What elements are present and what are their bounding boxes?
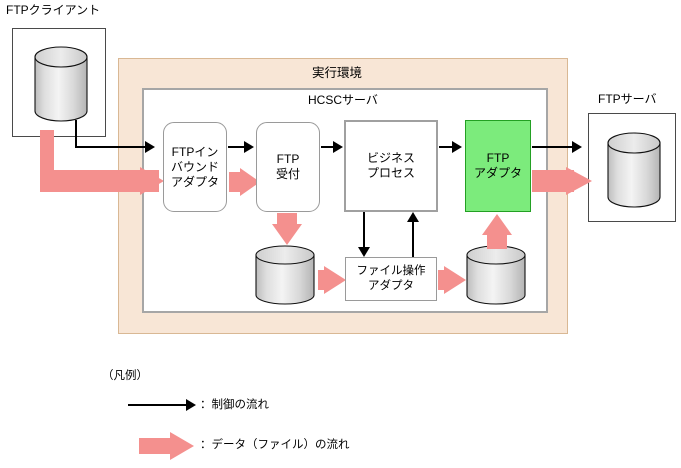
ftp-client-label: FTPクライアント [6,3,100,17]
ftp-inbound-adapter-line-2: バウンド [171,160,219,175]
execution-environment-label: 実行環境 [312,62,362,81]
ftp-server-database-icon [607,132,661,208]
data-flow-rightwork-up-arrowhead [479,213,515,237]
ftp-adapter-line-1: FTP [474,151,522,166]
ftp-server-label: FTPサーバ [598,92,657,106]
ftp-server-box [588,113,676,222]
legend-data-flow-label: ：データ（ファイル）の流れ [200,438,350,452]
control-flow-adapter-to-server-line [532,146,574,148]
ftp-reception-line-1: FTP [276,152,300,167]
diagram-canvas: FTPクライアント [0,0,681,468]
control-flow-client-vertical [75,120,77,148]
ftp-reception-node[interactable]: FTP 受付 [256,122,320,212]
control-flow-adapter-to-server-arrowhead [572,141,582,153]
control-flow-process-to-fileop-arrowhead [358,247,370,257]
legend-data-flow-arrowhead [170,430,196,464]
work-file-left-database-icon [255,245,317,307]
ftp-inbound-adapter-node[interactable]: FTPイン バウンド アダプタ [163,122,227,212]
control-flow-process-to-adapter-arrowhead [452,141,462,153]
work-file-right-database-icon [466,245,528,307]
control-flow-process-to-fileop-line [363,212,365,250]
legend-heading: （凡例） [102,369,148,383]
file-operation-adapter-line-1: ファイル操作 [357,264,426,279]
data-flow-fileop-to-rightwork-arrowhead [444,263,468,297]
legend-control-flow-line [128,404,190,406]
control-flow-client-horizontal [75,146,147,148]
legend-control-flow-label: ：制御の流れ [200,398,269,412]
control-flow-fileop-to-process-line [412,222,414,258]
ftp-adapter-node[interactable]: FTP アダプタ [465,120,531,212]
file-operation-adapter-line-2: アダプタ [357,279,426,294]
business-process-line-1: ビジネス [367,151,415,166]
business-process-node[interactable]: ビジネス プロセス [344,120,438,212]
ftp-reception-line-2: 受付 [276,167,300,182]
ftp-adapter-line-2: アダプタ [474,166,522,181]
control-flow-reception-to-process-arrowhead [333,141,343,153]
control-flow-client-arrowhead [145,141,155,153]
ftp-client-database-icon [34,46,88,122]
ftp-inbound-adapter-line-3: アダプタ [171,175,219,190]
business-process-line-2: プロセス [367,166,415,181]
control-flow-fileop-to-process-arrowhead [407,212,419,222]
ftp-inbound-adapter-line-1: FTPイン [171,145,219,160]
file-operation-adapter-node[interactable]: ファイル操作 アダプタ [345,257,437,301]
data-flow-adapter-to-server-arrowhead [566,163,594,199]
legend-control-flow-arrowhead [186,399,196,411]
ftp-client-box [12,28,106,137]
hcsc-server-label: HCSCサーバ [308,93,378,107]
control-flow-inbound-to-reception-arrowhead [244,141,254,153]
